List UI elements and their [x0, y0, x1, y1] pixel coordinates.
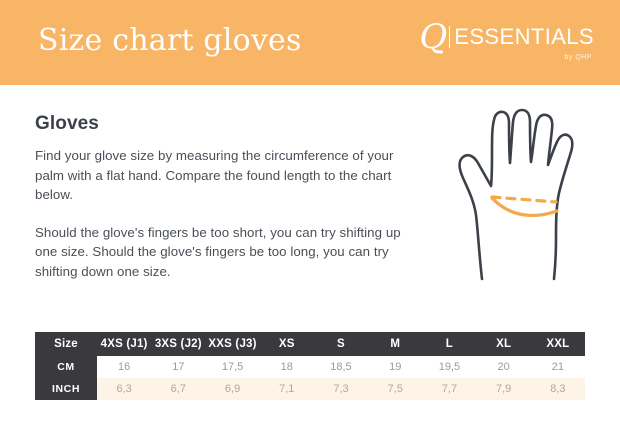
- cell-inch-2: 6,9: [205, 378, 259, 400]
- cell-cm-6: 19,5: [422, 356, 476, 378]
- cell-cm-1: 17: [151, 356, 205, 378]
- table-head: Size 4XS (J1) 3XS (J2) XXS (J3) XS S M L…: [35, 332, 585, 356]
- content-area: Gloves Find your glove size by measuring…: [0, 85, 620, 325]
- cell-cm-7: 20: [477, 356, 531, 378]
- cell-inch-3: 7,1: [260, 378, 314, 400]
- table-header-col-7: XL: [477, 332, 531, 356]
- cell-cm-4: 18,5: [314, 356, 368, 378]
- table-header-col-8: XXL: [531, 332, 585, 356]
- row-label-cm: CM: [35, 356, 97, 378]
- table-header-col-2: XXS (J3): [205, 332, 259, 356]
- brand-logo: Q ESSENTIALS by QHP: [419, 22, 594, 64]
- instruction-paragraph-1: Find your glove size by measuring the ci…: [35, 146, 410, 205]
- table-row-cm: CM 16 17 17,5 18 18,5 19 19,5 20 21: [35, 356, 585, 378]
- hand-outline-icon: [452, 103, 592, 283]
- cell-inch-8: 8,3: [531, 378, 585, 400]
- table-header-col-0: 4XS (J1): [97, 332, 151, 356]
- table-row-inch: INCH 6,3 6,7 6,9 7,1 7,3 7,5 7,7 7,9 8,3: [35, 378, 585, 400]
- size-chart-table: Size 4XS (J1) 3XS (J2) XXS (J3) XS S M L…: [35, 332, 585, 400]
- logo-divider: [449, 26, 450, 48]
- table-header-size: Size: [35, 332, 97, 356]
- table-header-col-1: 3XS (J2): [151, 332, 205, 356]
- logo-wordmark: Q ESSENTIALS: [419, 22, 594, 53]
- logo-subtitle: by QHP: [564, 54, 592, 61]
- cell-inch-4: 7,3: [314, 378, 368, 400]
- hand-illustration: [452, 103, 592, 283]
- instructions-block: Gloves Find your glove size by measuring…: [35, 113, 410, 281]
- section-title: Gloves: [35, 113, 410, 135]
- cell-inch-0: 6,3: [97, 378, 151, 400]
- cell-cm-8: 21: [531, 356, 585, 378]
- page-header: Size chart gloves Q ESSENTIALS by QHP: [0, 0, 620, 85]
- instruction-paragraph-2: Should the glove's fingers be too short,…: [35, 223, 410, 282]
- table-header-row: Size 4XS (J1) 3XS (J2) XXS (J3) XS S M L…: [35, 332, 585, 356]
- size-chart-table-container: Size 4XS (J1) 3XS (J2) XXS (J3) XS S M L…: [35, 332, 585, 400]
- cell-cm-5: 19: [368, 356, 422, 378]
- cell-inch-7: 7,9: [477, 378, 531, 400]
- logo-word-essentials: ESSENTIALS: [454, 26, 594, 48]
- cell-cm-3: 18: [260, 356, 314, 378]
- table-body: CM 16 17 17,5 18 18,5 19 19,5 20 21 INCH…: [35, 356, 585, 400]
- cell-cm-0: 16: [97, 356, 151, 378]
- table-header-col-5: M: [368, 332, 422, 356]
- row-label-inch: INCH: [35, 378, 97, 400]
- cell-inch-5: 7,5: [368, 378, 422, 400]
- table-header-col-3: XS: [260, 332, 314, 356]
- logo-q-mark: Q: [419, 22, 447, 53]
- page-title: Size chart gloves: [38, 26, 302, 60]
- table-header-col-6: L: [422, 332, 476, 356]
- cell-inch-6: 7,7: [422, 378, 476, 400]
- cell-cm-2: 17,5: [205, 356, 259, 378]
- table-header-col-4: S: [314, 332, 368, 356]
- cell-inch-1: 6,7: [151, 378, 205, 400]
